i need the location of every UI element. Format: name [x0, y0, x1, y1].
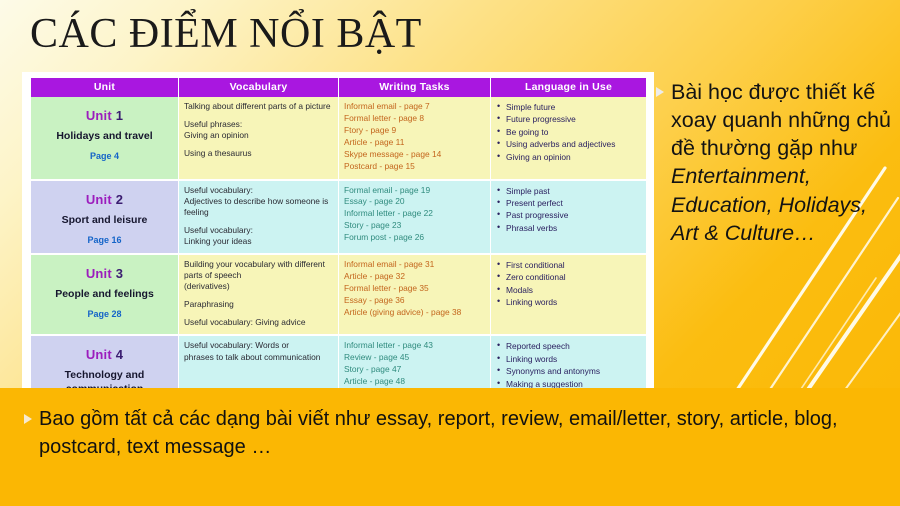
vocabulary-cell: Building your vocabulary with differentp…	[179, 254, 339, 335]
vocabulary-cell: Talking about different parts of a pictu…	[179, 97, 339, 180]
writing-task-item: Article (giving advice) - page 38	[344, 307, 485, 319]
language-in-use-cell: First conditionalZero conditionalModalsL…	[491, 254, 647, 335]
language-item: Reported speech	[496, 340, 641, 352]
vocabulary-line: Useful phrases:	[184, 119, 333, 130]
writing-task-item: Ftory - page 9	[344, 125, 485, 137]
writing-task-item: Story - page 23	[344, 220, 485, 232]
unit-page-number: Page 16	[36, 235, 173, 245]
unit-topic: Sport and leisure	[36, 214, 173, 227]
column-header-writing-tasks: Writing Tasks	[339, 78, 491, 97]
writing-tasks-cell: Informal email - page 31Article - page 3…	[339, 254, 491, 335]
vocabulary-line: feeling	[184, 207, 333, 218]
syllabus-table: Unit Vocabulary Writing Tasks Language i…	[30, 78, 647, 388]
language-item: Past progressive	[496, 209, 641, 221]
table-header-row: Unit Vocabulary Writing Tasks Language i…	[31, 78, 647, 97]
language-list: Reported speechLinking wordsSynonyms and…	[496, 340, 641, 388]
language-item: Giving an opinion	[496, 151, 641, 163]
table-body: Unit 1Holidays and travelPage 4Talking a…	[31, 97, 647, 388]
language-in-use-cell: Simple pastPresent perfectPast progressi…	[491, 180, 647, 254]
table-row: Unit 4Technology and communicationUseful…	[31, 335, 647, 388]
writing-tasks-cell: Informal letter - page 43Review - page 4…	[339, 335, 491, 388]
unit-cell: Unit 1Holidays and travelPage 4	[31, 97, 179, 180]
writing-task-item: Formal email - page 19	[344, 185, 485, 197]
writing-task-item: Essay - page 20	[344, 196, 485, 208]
right-bullet-block: Bài học được thiết kế xoay quanh những c…	[656, 78, 894, 247]
language-in-use-cell: Reported speechLinking wordsSynonyms and…	[491, 335, 647, 388]
writing-task-item: Article - page 32	[344, 271, 485, 283]
writing-task-item: Forum post - page 26	[344, 232, 485, 244]
vocabulary-line: parts of speech	[184, 270, 333, 281]
vocabulary-line: Useful vocabulary:	[184, 225, 333, 236]
language-item: Future progressive	[496, 113, 641, 125]
table-row: Unit 1Holidays and travelPage 4Talking a…	[31, 97, 647, 180]
unit-topic: Technology and communication	[36, 369, 173, 388]
vocabulary-line: Talking about different parts of a pictu…	[184, 101, 333, 112]
language-item: First conditional	[496, 259, 641, 271]
right-bullet-italic: Entertainment, Education, Holidays, Art …	[671, 164, 867, 244]
table-row: Unit 2Sport and leisurePage 16Useful voc…	[31, 180, 647, 254]
vocabulary-spacer	[184, 141, 333, 148]
writing-task-item: Article - page 48	[344, 376, 485, 388]
table-row: Unit 3People and feelingsPage 28Building…	[31, 254, 647, 335]
column-header-unit: Unit	[31, 78, 179, 97]
language-item: Simple future	[496, 101, 641, 113]
vocabulary-line: Using a thesaurus	[184, 148, 333, 159]
vocabulary-line: Giving an opinion	[184, 130, 333, 141]
writing-tasks-cell: Formal email - page 19Essay - page 20Inf…	[339, 180, 491, 254]
vocabulary-cell: Useful vocabulary:Adjectives to describe…	[179, 180, 339, 254]
page-title: CÁC ĐIỂM NỔI BẬT	[30, 10, 422, 58]
writing-task-item: Postcard - page 15	[344, 161, 485, 173]
language-item: Linking words	[496, 353, 641, 365]
bottom-orange-band: Bao gồm tất cả các dạng bài viết như ess…	[0, 388, 900, 506]
language-list: Simple futureFuture progressiveBe going …	[496, 101, 641, 163]
unit-page-number: Page 28	[36, 309, 173, 319]
writing-task-item: Informal letter - page 22	[344, 208, 485, 220]
unit-topic: Holidays and travel	[36, 130, 173, 143]
unit-cell: Unit 2Sport and leisurePage 16	[31, 180, 179, 254]
language-list: First conditionalZero conditionalModalsL…	[496, 259, 641, 309]
unit-title: Unit 3	[36, 266, 173, 281]
vocabulary-spacer	[184, 218, 333, 225]
vocabulary-line: Linking your ideas	[184, 236, 333, 247]
unit-title: Unit 2	[36, 192, 173, 207]
language-item: Synonyms and antonyms	[496, 365, 641, 377]
language-item: Phrasal verbs	[496, 222, 641, 234]
vocabulary-spacer	[184, 310, 333, 317]
vocabulary-line: Adjectives to describe how someone is	[184, 196, 333, 207]
writing-task-item: Review - page 45	[344, 352, 485, 364]
language-list: Simple pastPresent perfectPast progressi…	[496, 185, 641, 235]
writing-task-item: Formal letter - page 35	[344, 283, 485, 295]
language-item: Simple past	[496, 185, 641, 197]
unit-cell: Unit 3People and feelingsPage 28	[31, 254, 179, 335]
language-item: Making a suggestion	[496, 378, 641, 388]
syllabus-table-image: Unit Vocabulary Writing Tasks Language i…	[22, 72, 654, 388]
writing-task-item: Informal letter - page 43	[344, 340, 485, 352]
right-bullet-plain: Bài học được thiết kế xoay quanh những c…	[671, 80, 891, 160]
writing-task-item: Story - page 47	[344, 364, 485, 376]
language-item: Zero conditional	[496, 271, 641, 283]
vocabulary-line: Building your vocabulary with different	[184, 259, 333, 270]
vocabulary-line: phrases to talk about communication	[184, 352, 333, 363]
unit-topic: People and feelings	[36, 288, 173, 301]
language-item: Present perfect	[496, 197, 641, 209]
bottom-bullet-text: Bao gồm tất cả các dạng bài viết như ess…	[39, 405, 880, 462]
unit-title: Unit 4	[36, 347, 173, 362]
vocabulary-cell: Useful vocabulary: Words orphrases to ta…	[179, 335, 339, 388]
writing-task-item: Essay - page 36	[344, 295, 485, 307]
writing-task-item: Informal email - page 7	[344, 101, 485, 113]
column-header-language-in-use: Language in Use	[491, 78, 647, 97]
language-item: Be going to	[496, 126, 641, 138]
language-in-use-cell: Simple futureFuture progressiveBe going …	[491, 97, 647, 180]
vocabulary-line: Useful vocabulary:	[184, 185, 333, 196]
language-item: Modals	[496, 284, 641, 296]
vocabulary-line: (derivatives)	[184, 281, 333, 292]
unit-page-number: Page 4	[36, 151, 173, 161]
language-item: Linking words	[496, 296, 641, 308]
column-header-vocabulary: Vocabulary	[179, 78, 339, 97]
vocabulary-line: Useful vocabulary: Giving advice	[184, 317, 333, 328]
triangle-bullet-icon-bottom	[24, 414, 32, 424]
vocabulary-spacer	[184, 292, 333, 299]
triangle-bullet-icon	[656, 87, 664, 97]
writing-task-item: Skype message - page 14	[344, 149, 485, 161]
writing-task-item: Formal letter - page 8	[344, 113, 485, 125]
vocabulary-spacer	[184, 112, 333, 119]
language-item: Using adverbs and adjectives	[496, 138, 641, 150]
unit-title: Unit 1	[36, 108, 173, 123]
writing-task-item: Article - page 11	[344, 137, 485, 149]
vocabulary-line: Paraphrasing	[184, 299, 333, 310]
unit-cell: Unit 4Technology and communication	[31, 335, 179, 388]
slide-canvas: CÁC ĐIỂM NỔI BẬT Unit Vocabulary Writing…	[0, 0, 900, 506]
writing-task-item: Informal email - page 31	[344, 259, 485, 271]
right-bullet-text: Bài học được thiết kế xoay quanh những c…	[671, 78, 894, 247]
writing-tasks-cell: Informal email - page 7Formal letter - p…	[339, 97, 491, 180]
vocabulary-line: Useful vocabulary: Words or	[184, 340, 333, 351]
